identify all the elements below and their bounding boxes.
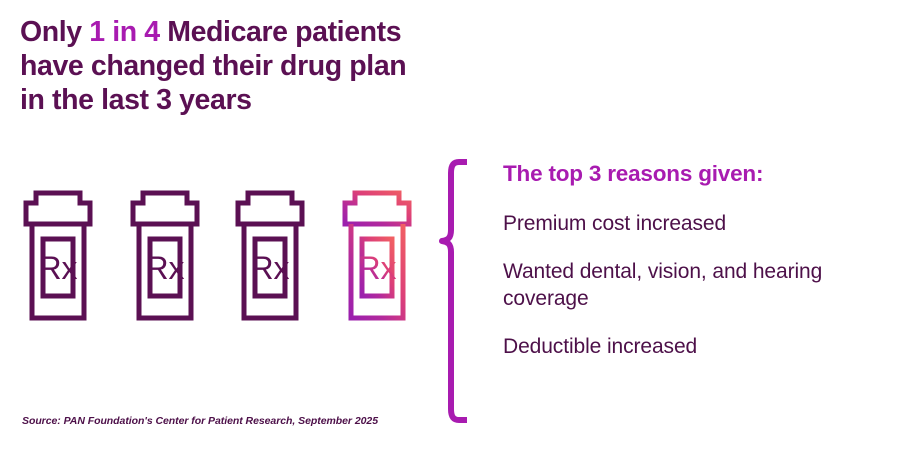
pill-bottle-1: Rx: [22, 182, 94, 322]
pill-bottle-3-label: Rx: [250, 250, 289, 286]
pill-bottle-3: Rx: [234, 182, 306, 322]
headline-line-2: have changed their drug plan: [20, 49, 500, 83]
headline-line-1: Only 1 in 4 Medicare patients: [20, 15, 500, 49]
pill-bottle-4-label: Rx: [357, 250, 396, 286]
headline-accent-statistic: 1 in 4: [89, 16, 159, 48]
headline-text-post: Medicare patients: [160, 16, 401, 48]
reason-item-3: Deductible increased: [503, 333, 893, 360]
page-title: Only 1 in 4 Medicare patients have chang…: [20, 15, 500, 117]
pill-bottle-4-highlighted: Rx: [341, 182, 413, 322]
reasons-panel: The top 3 reasons given: Premium cost in…: [503, 160, 893, 360]
source-attribution: Source: PAN Foundation's Center for Pati…: [22, 415, 378, 427]
curly-brace-icon: [437, 158, 473, 424]
reasons-panel-title: The top 3 reasons given:: [503, 160, 893, 188]
pill-bottle-1-label: Rx: [38, 250, 77, 286]
headline-line-3: in the last 3 years: [20, 83, 500, 117]
headline-text-pre: Only: [20, 16, 89, 48]
pill-bottle-row: Rx Rx Rx: [22, 182, 422, 322]
infographic-canvas: Only 1 in 4 Medicare patients have chang…: [0, 0, 900, 450]
reason-item-2: Wanted dental, vision, and hearing cover…: [503, 258, 893, 312]
reason-item-1: Premium cost increased: [503, 210, 893, 237]
pill-bottle-2-label: Rx: [145, 250, 184, 286]
pill-bottle-2: Rx: [129, 182, 201, 322]
